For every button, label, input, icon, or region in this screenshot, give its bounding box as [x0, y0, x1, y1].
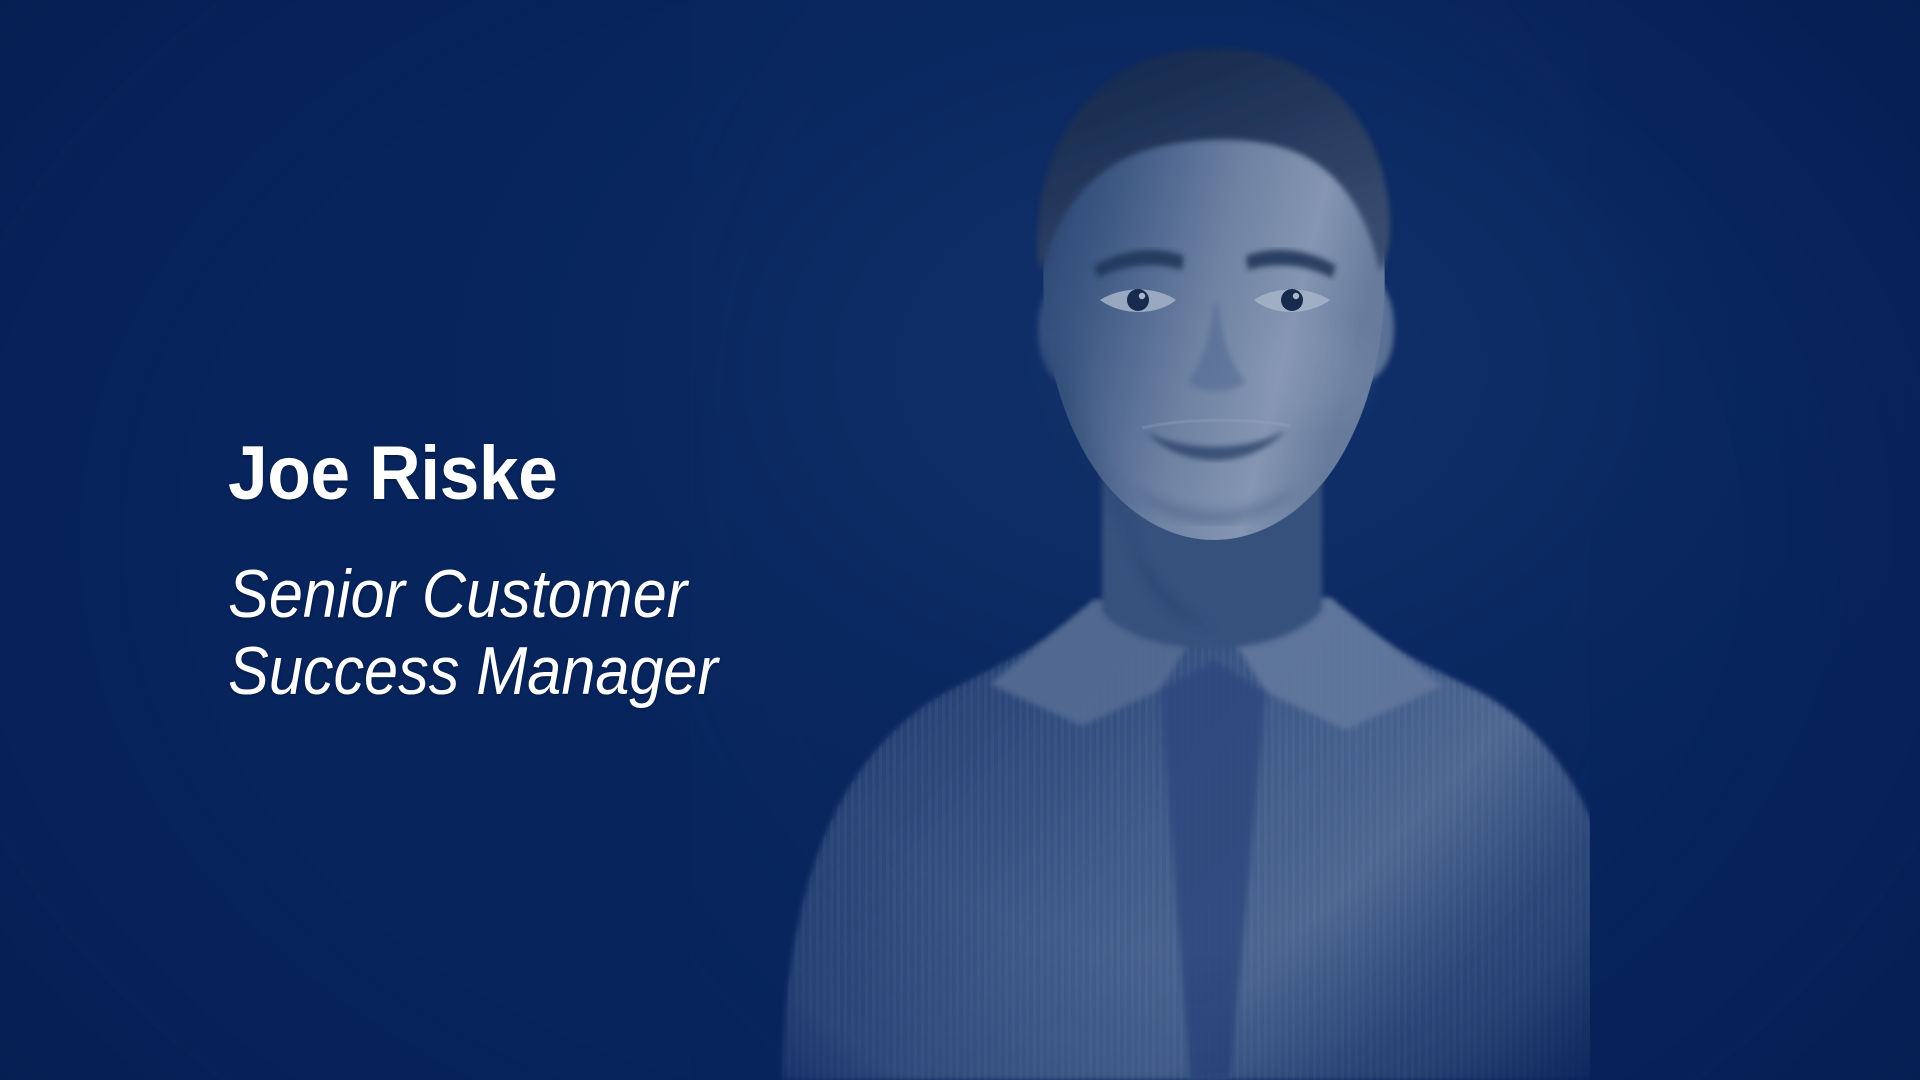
person-name: Joe Riske — [228, 436, 942, 512]
person-title: Senior Customer Success Manager — [228, 556, 912, 710]
person-identity-block: Joe Riske Senior Customer Success Manage… — [228, 436, 988, 710]
profile-title-card: Joe Riske Senior Customer Success Manage… — [0, 0, 1920, 1080]
person-title-line-2: Success Manager — [228, 633, 912, 710]
person-title-line-1: Senior Customer — [228, 556, 912, 633]
